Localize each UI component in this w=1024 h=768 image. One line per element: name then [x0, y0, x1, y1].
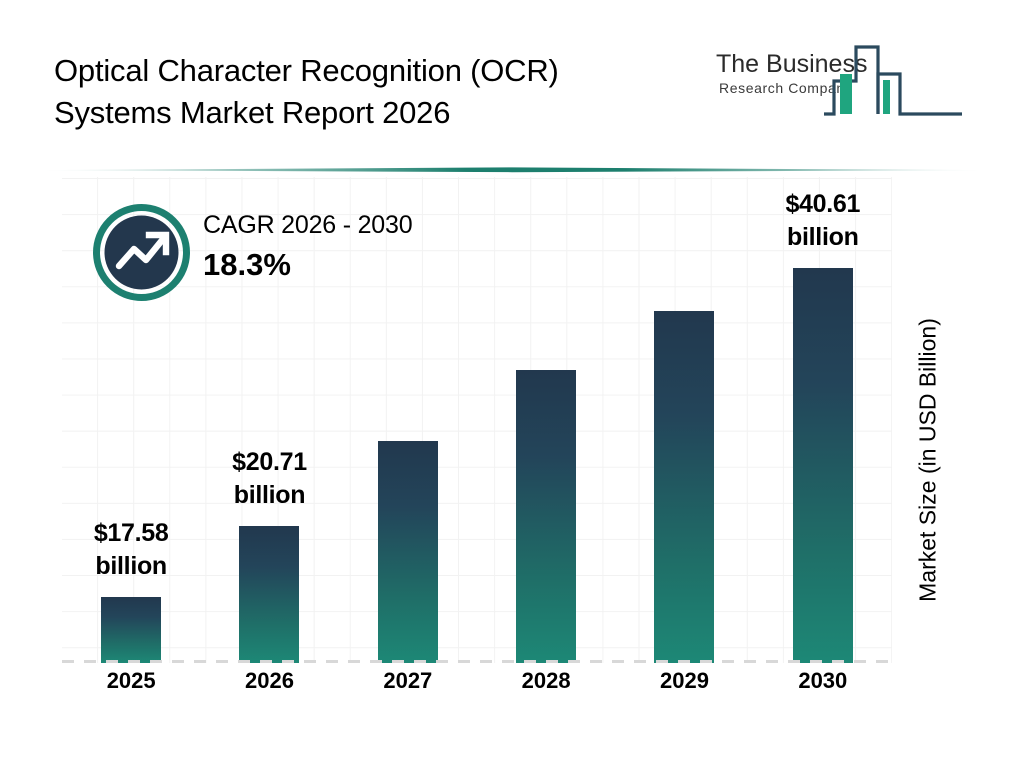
logo-svg: The Business Research Company: [716, 36, 966, 126]
bar-slot-2029: [615, 177, 753, 663]
chart-baseline: [62, 660, 892, 663]
cagr-badge: CAGR 2026 - 2030 18.3%: [93, 200, 493, 310]
page-title-line-2: Systems Market Report 2026: [54, 92, 694, 134]
page-title: Optical Character Recognition (OCR) Syst…: [54, 50, 694, 133]
logo-text-line-1: The Business: [716, 50, 867, 78]
x-axis-tick-labels: 2025 2026 2027 2028 2029 2030: [62, 668, 892, 712]
bar-value-label-2030: $40.61 billion: [748, 188, 898, 254]
x-tick-2026: 2026: [200, 668, 338, 712]
logo-bar-green-2: [883, 80, 890, 114]
logo-bar-green-1: [840, 74, 852, 114]
bar-slot-2030: $40.61 billion: [754, 177, 892, 663]
chart-page: Optical Character Recognition (OCR) Syst…: [0, 0, 1024, 768]
bar-value-amount: $20.71: [194, 446, 344, 479]
y-axis-title-text: Market Size (in USD Billion): [915, 318, 942, 602]
bar-value-amount: $40.61: [748, 188, 898, 221]
page-title-line-1: Optical Character Recognition (OCR): [54, 50, 694, 92]
logo-text-line-2: Research Company: [719, 80, 852, 96]
bar-2027[interactable]: [378, 441, 438, 663]
y-axis-title: Market Size (in USD Billion): [908, 270, 948, 650]
company-logo: The Business Research Company: [716, 36, 966, 126]
bar-value-label-2026: $20.71 billion: [194, 446, 344, 512]
bar-value-label-2025: $17.58 billion: [56, 517, 206, 583]
cagr-period-label: CAGR 2026 - 2030: [203, 210, 412, 241]
x-tick-2030: 2030: [754, 668, 892, 712]
bar-2026[interactable]: [239, 526, 299, 663]
bar-2028[interactable]: [516, 370, 576, 663]
bar-2029[interactable]: [654, 311, 714, 663]
bar-value-unit: billion: [748, 221, 898, 254]
x-tick-2027: 2027: [339, 668, 477, 712]
x-tick-2029: 2029: [615, 668, 753, 712]
bar-2025[interactable]: [101, 597, 161, 663]
cagr-value: 18.3%: [203, 245, 412, 285]
header-divider: [40, 160, 984, 166]
x-tick-2028: 2028: [477, 668, 615, 712]
bar-2030[interactable]: [793, 268, 853, 663]
trending-up-arrow-icon: [93, 204, 190, 301]
x-tick-2025: 2025: [62, 668, 200, 712]
bar-value-unit: billion: [56, 550, 206, 583]
bar-value-unit: billion: [194, 479, 344, 512]
cagr-text-block: CAGR 2026 - 2030 18.3%: [203, 210, 412, 286]
bar-value-amount: $17.58: [56, 517, 206, 550]
bar-slot-2028: [477, 177, 615, 663]
